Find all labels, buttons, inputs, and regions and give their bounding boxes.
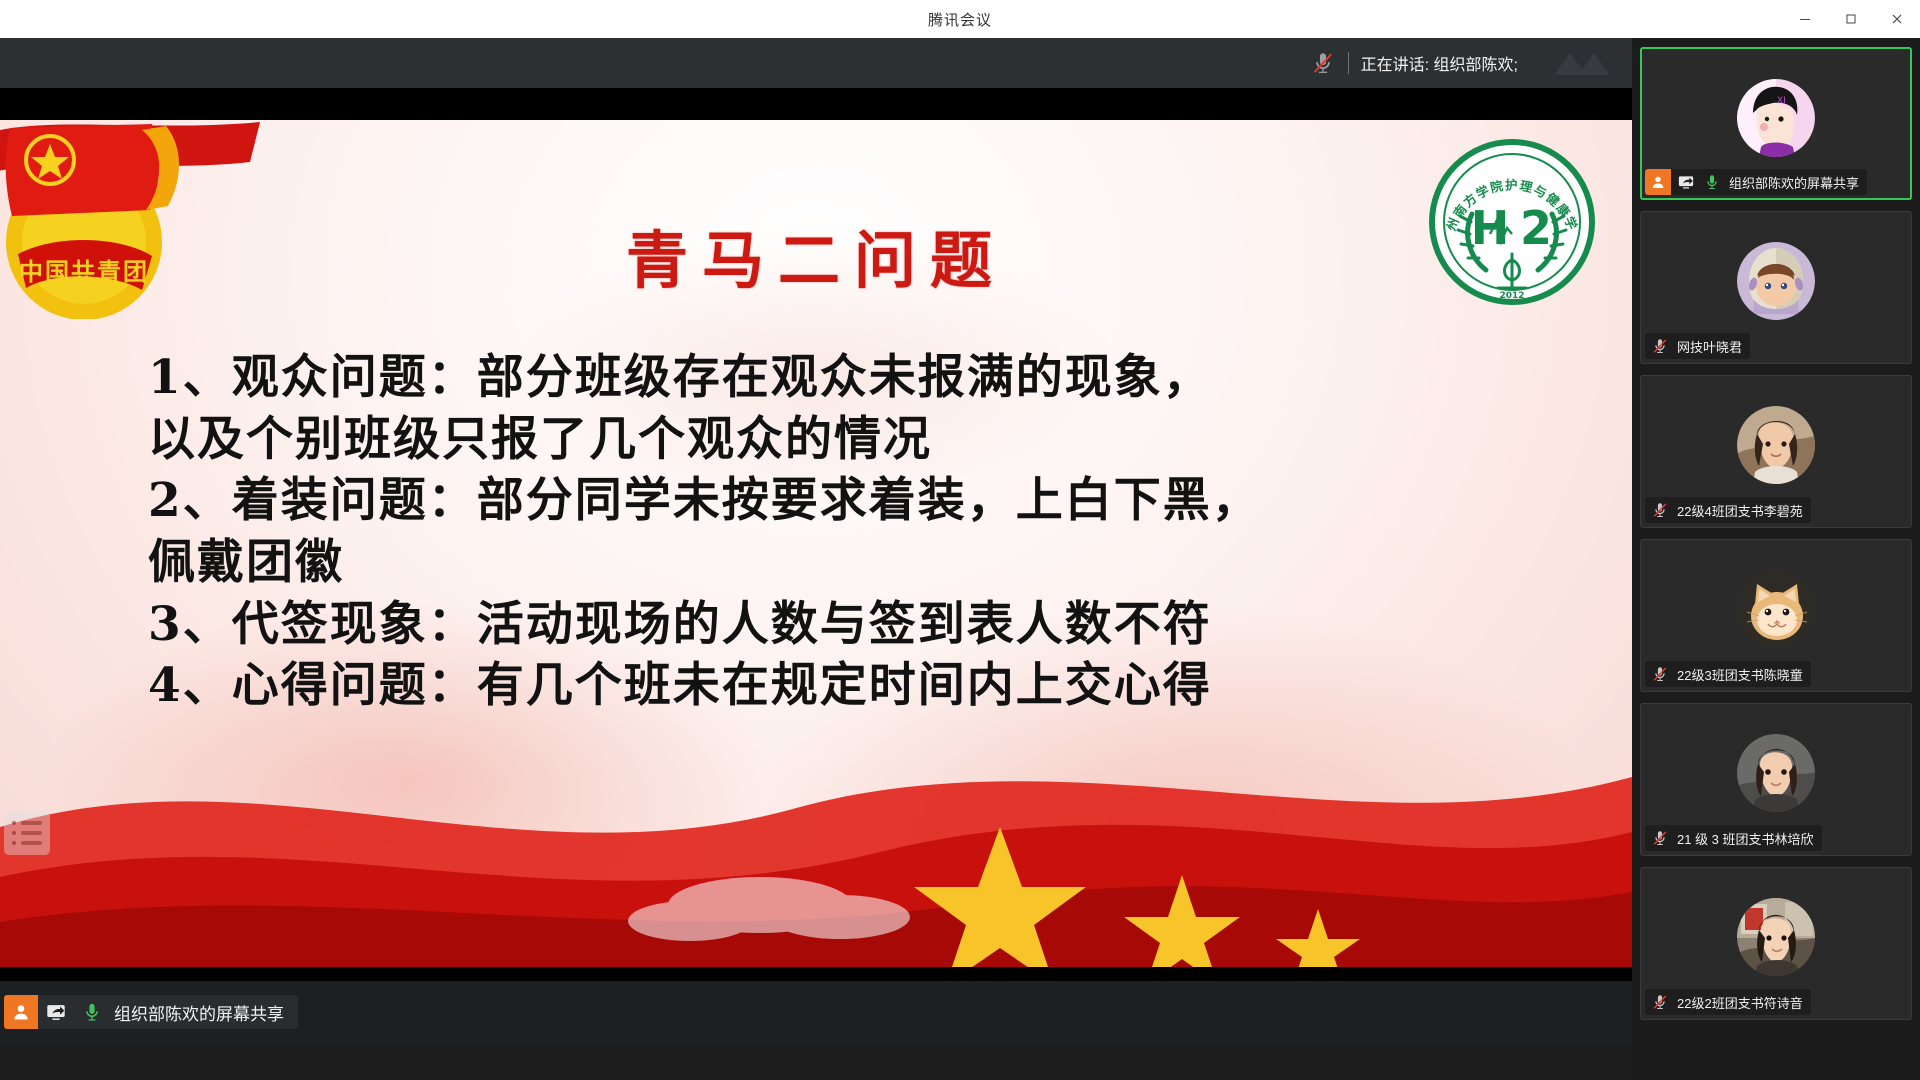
avatar	[1737, 406, 1815, 484]
participant-label: 网技叶晓君	[1645, 333, 1750, 359]
slide-list-widget-row	[12, 821, 42, 825]
participant-tile[interactable]: 22级3班团支书陈晓童	[1640, 539, 1912, 692]
screen-share-icon	[43, 999, 69, 1025]
avatar	[1737, 242, 1815, 320]
window-titlebar: 腾讯会议	[0, 0, 1920, 38]
maximize-button[interactable]	[1828, 0, 1874, 38]
avatar	[1737, 734, 1815, 812]
participant-tile[interactable]: XI	[1640, 47, 1912, 200]
minimize-button[interactable]	[1782, 0, 1828, 38]
svg-text:XI: XI	[1777, 96, 1786, 106]
topbar-divider	[1348, 52, 1349, 74]
slide-body: 1、观众问题：部分班级存在观众未报满的现象， 以及个别班级只报了几个观众的情况 …	[148, 348, 1348, 718]
avatar: XI	[1737, 79, 1815, 157]
participant-tile[interactable]: 网技叶晓君	[1640, 211, 1912, 364]
slide-line: 佩戴团徽	[148, 533, 1348, 593]
participant-tile[interactable]: 22级2班团支书符诗音	[1640, 867, 1912, 1020]
screen-share-icon	[1675, 171, 1697, 193]
mic-on-icon	[1701, 171, 1723, 193]
avatar	[1737, 570, 1815, 648]
meeting-window: 正在讲话: 组织部陈欢;	[0, 38, 1920, 1080]
share-status-pill: 组织部陈欢的屏幕共享	[4, 995, 298, 1029]
mic-muted-icon	[1649, 827, 1671, 849]
slide-title: 青马二问题	[0, 210, 1632, 300]
participant-label: 22级3班团支书陈晓童	[1645, 661, 1811, 687]
tencent-meeting-logo-watermark	[1544, 43, 1618, 83]
host-badge-icon	[4, 995, 38, 1029]
mic-on-icon	[79, 999, 105, 1025]
mic-muted-icon	[1649, 663, 1671, 685]
active-speaker-indicator: 正在讲话: 组织部陈欢;	[1310, 46, 1632, 80]
mic-muted-icon	[1649, 991, 1671, 1013]
slide-line: 2、着装问题：部分同学未按要求着装，上白下黑，	[148, 471, 1348, 531]
shared-screen-area[interactable]: 中国共青团 广州南方学院护理与健康学院 H 2	[0, 88, 1632, 1043]
slide-line: 1、观众问题：部分班级存在观众未报满的现象，	[148, 348, 1348, 408]
mic-muted-icon	[1649, 499, 1671, 521]
participant-name: 组织部陈欢的屏幕共享	[1723, 173, 1867, 192]
window-controls	[1782, 0, 1920, 38]
host-badge-icon	[1645, 169, 1671, 195]
participant-name: 21 级 3 班团支书林培欣	[1671, 829, 1822, 848]
participant-rail[interactable]: XI	[1632, 38, 1920, 1080]
share-status-text: 组织部陈欢的屏幕共享	[110, 1000, 298, 1025]
participant-name: 22级3班团支书陈晓童	[1671, 665, 1811, 684]
participant-label: 22级2班团支书符诗音	[1645, 989, 1811, 1015]
share-status-bar: 组织部陈欢的屏幕共享	[0, 981, 1632, 1043]
participant-name: 22级2班团支书符诗音	[1671, 993, 1811, 1012]
slide-line: 4、心得问题：有几个班未在规定时间内上交心得	[148, 656, 1348, 716]
avatar	[1737, 898, 1815, 976]
slide-list-widget-row	[12, 841, 42, 845]
participant-label: 21 级 3 班团支书林培欣	[1645, 825, 1822, 851]
participant-label: 组织部陈欢的屏幕共享	[1645, 169, 1867, 195]
participant-label: 22级4班团支书李碧苑	[1645, 497, 1811, 523]
window-title: 腾讯会议	[928, 9, 992, 30]
mic-muted-icon	[1310, 50, 1336, 76]
slide-list-widget-row	[12, 831, 42, 835]
meeting-topbar: 正在讲话: 组织部陈欢;	[0, 38, 1632, 88]
slide-line: 以及个别班级只报了几个观众的情况	[148, 410, 1348, 470]
mic-muted-icon	[1649, 335, 1671, 357]
close-button[interactable]	[1874, 0, 1920, 38]
presentation-slide: 中国共青团 广州南方学院护理与健康学院 H 2	[0, 120, 1632, 967]
participant-tile[interactable]: 22级4班团支书李碧苑	[1640, 375, 1912, 528]
slide-line: 3、代签现象：活动现场的人数与签到表人数不符	[148, 595, 1348, 655]
slide-list-widget[interactable]	[4, 811, 50, 855]
participant-name: 网技叶晓君	[1671, 337, 1750, 356]
participant-name: 22级4班团支书李碧苑	[1671, 501, 1811, 520]
speaker-status-text: 正在讲话: 组织部陈欢;	[1361, 51, 1518, 75]
participant-tile[interactable]: 21 级 3 班团支书林培欣	[1640, 703, 1912, 856]
